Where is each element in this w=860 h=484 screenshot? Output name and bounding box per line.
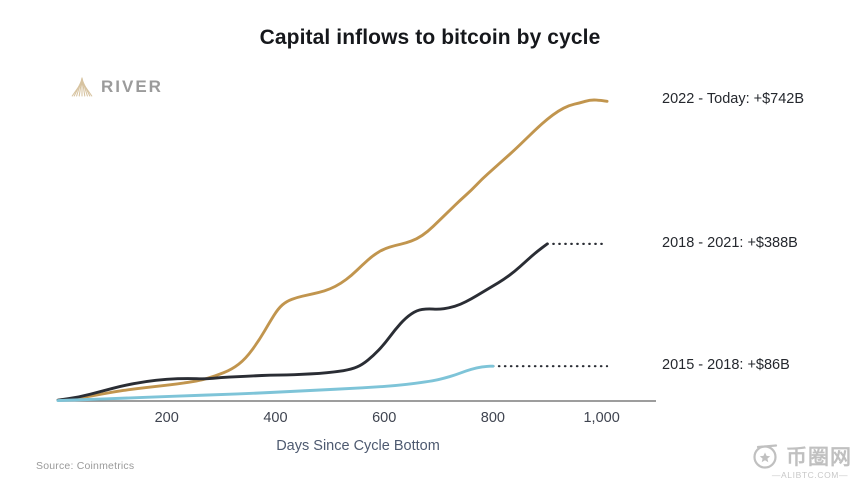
x-tick-label: 200 xyxy=(155,410,179,426)
legend-item-1: 2022 - Today: +$742B xyxy=(662,91,804,107)
source-note: Source: Coinmetrics xyxy=(36,460,134,472)
series-layer xyxy=(58,100,607,401)
site-watermark: 币圈网 —ALIBTC.COM— xyxy=(752,441,852,480)
legend-item-2: 2018 - 2021: +$388B xyxy=(662,235,798,251)
series-line xyxy=(58,366,493,400)
watermark-glyphs: 币圈网 xyxy=(786,441,852,471)
watermark-domain: —ALIBTC.COM— xyxy=(772,470,848,480)
chart-container: Capital inflows to bitcoin by cycle RIVE… xyxy=(0,0,860,484)
x-axis-title: Days Since Cycle Bottom xyxy=(233,438,483,454)
x-tick-label: 600 xyxy=(372,410,396,426)
series-2 xyxy=(58,244,607,400)
bitcoin-circle-icon xyxy=(752,442,782,470)
series-line xyxy=(58,244,547,400)
series-1 xyxy=(58,100,607,400)
x-tick-label: 400 xyxy=(263,410,287,426)
x-tick-label: 1,000 xyxy=(583,410,619,426)
x-tick-label: 800 xyxy=(481,410,505,426)
legend-item-3: 2015 - 2018: +$86B xyxy=(662,357,790,373)
series-line xyxy=(58,100,607,400)
